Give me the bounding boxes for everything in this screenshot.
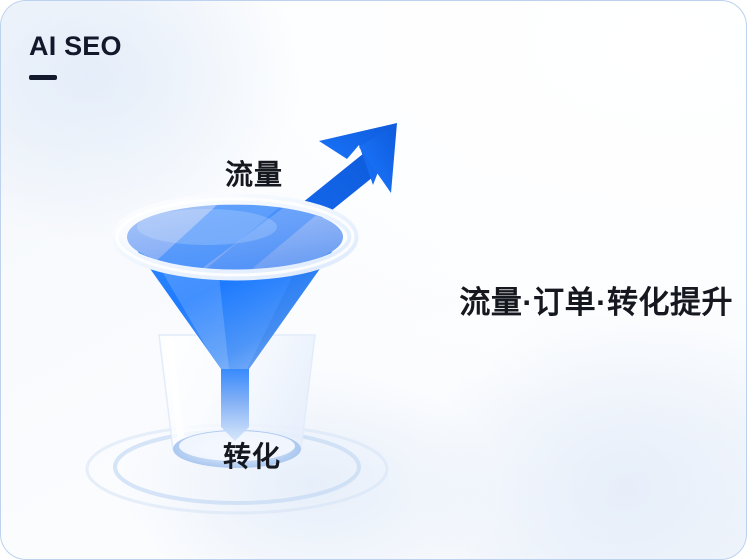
page-title: AI SEO — [29, 33, 122, 60]
ambient-glow-bottom-right — [416, 309, 747, 560]
funnel-icon — [117, 199, 353, 369]
funnel-stem — [221, 365, 249, 441]
ai-seo-card: AI SEO 流量·订单·转化提升 — [0, 0, 747, 560]
funnel-label-conversion: 转化 — [223, 435, 281, 475]
headline-text: 流量·订单·转化提升 — [459, 277, 733, 322]
funnel-label-traffic: 流量 — [225, 153, 283, 193]
title-block: AI SEO — [29, 33, 122, 80]
title-underline-rule — [29, 75, 57, 80]
